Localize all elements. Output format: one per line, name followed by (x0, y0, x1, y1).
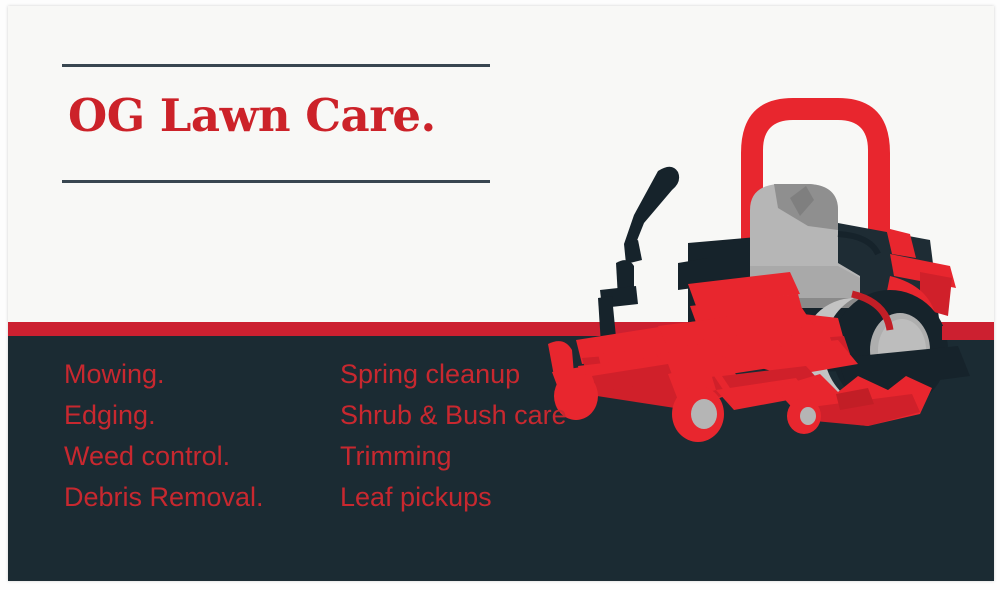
services-column-left: Mowing. Edging. Weed control. Debris Rem… (64, 354, 340, 518)
service-item: Weed control. (64, 436, 340, 477)
header-spacer (62, 138, 492, 180)
service-item: Leaf pickups (340, 477, 640, 518)
brand-title: OG Lawn Care. (62, 67, 492, 138)
service-item: Shrub & Bush care (340, 395, 640, 436)
services-lists: Mowing. Edging. Weed control. Debris Rem… (64, 354, 640, 518)
services-column-right: Spring cleanup Shrub & Bush care Trimmin… (340, 354, 640, 518)
business-card-canvas: OG Lawn Care. (0, 0, 1000, 590)
service-item: Spring cleanup (340, 354, 640, 395)
red-divider-band (8, 322, 994, 336)
business-card: OG Lawn Care. (8, 6, 994, 581)
header-rule-bottom (62, 180, 490, 183)
service-item: Debris Removal. (64, 477, 340, 518)
service-item: Edging. (64, 395, 340, 436)
service-item: Trimming (340, 436, 640, 477)
brand-header: OG Lawn Care. (62, 64, 492, 183)
service-item: Mowing. (64, 354, 340, 395)
